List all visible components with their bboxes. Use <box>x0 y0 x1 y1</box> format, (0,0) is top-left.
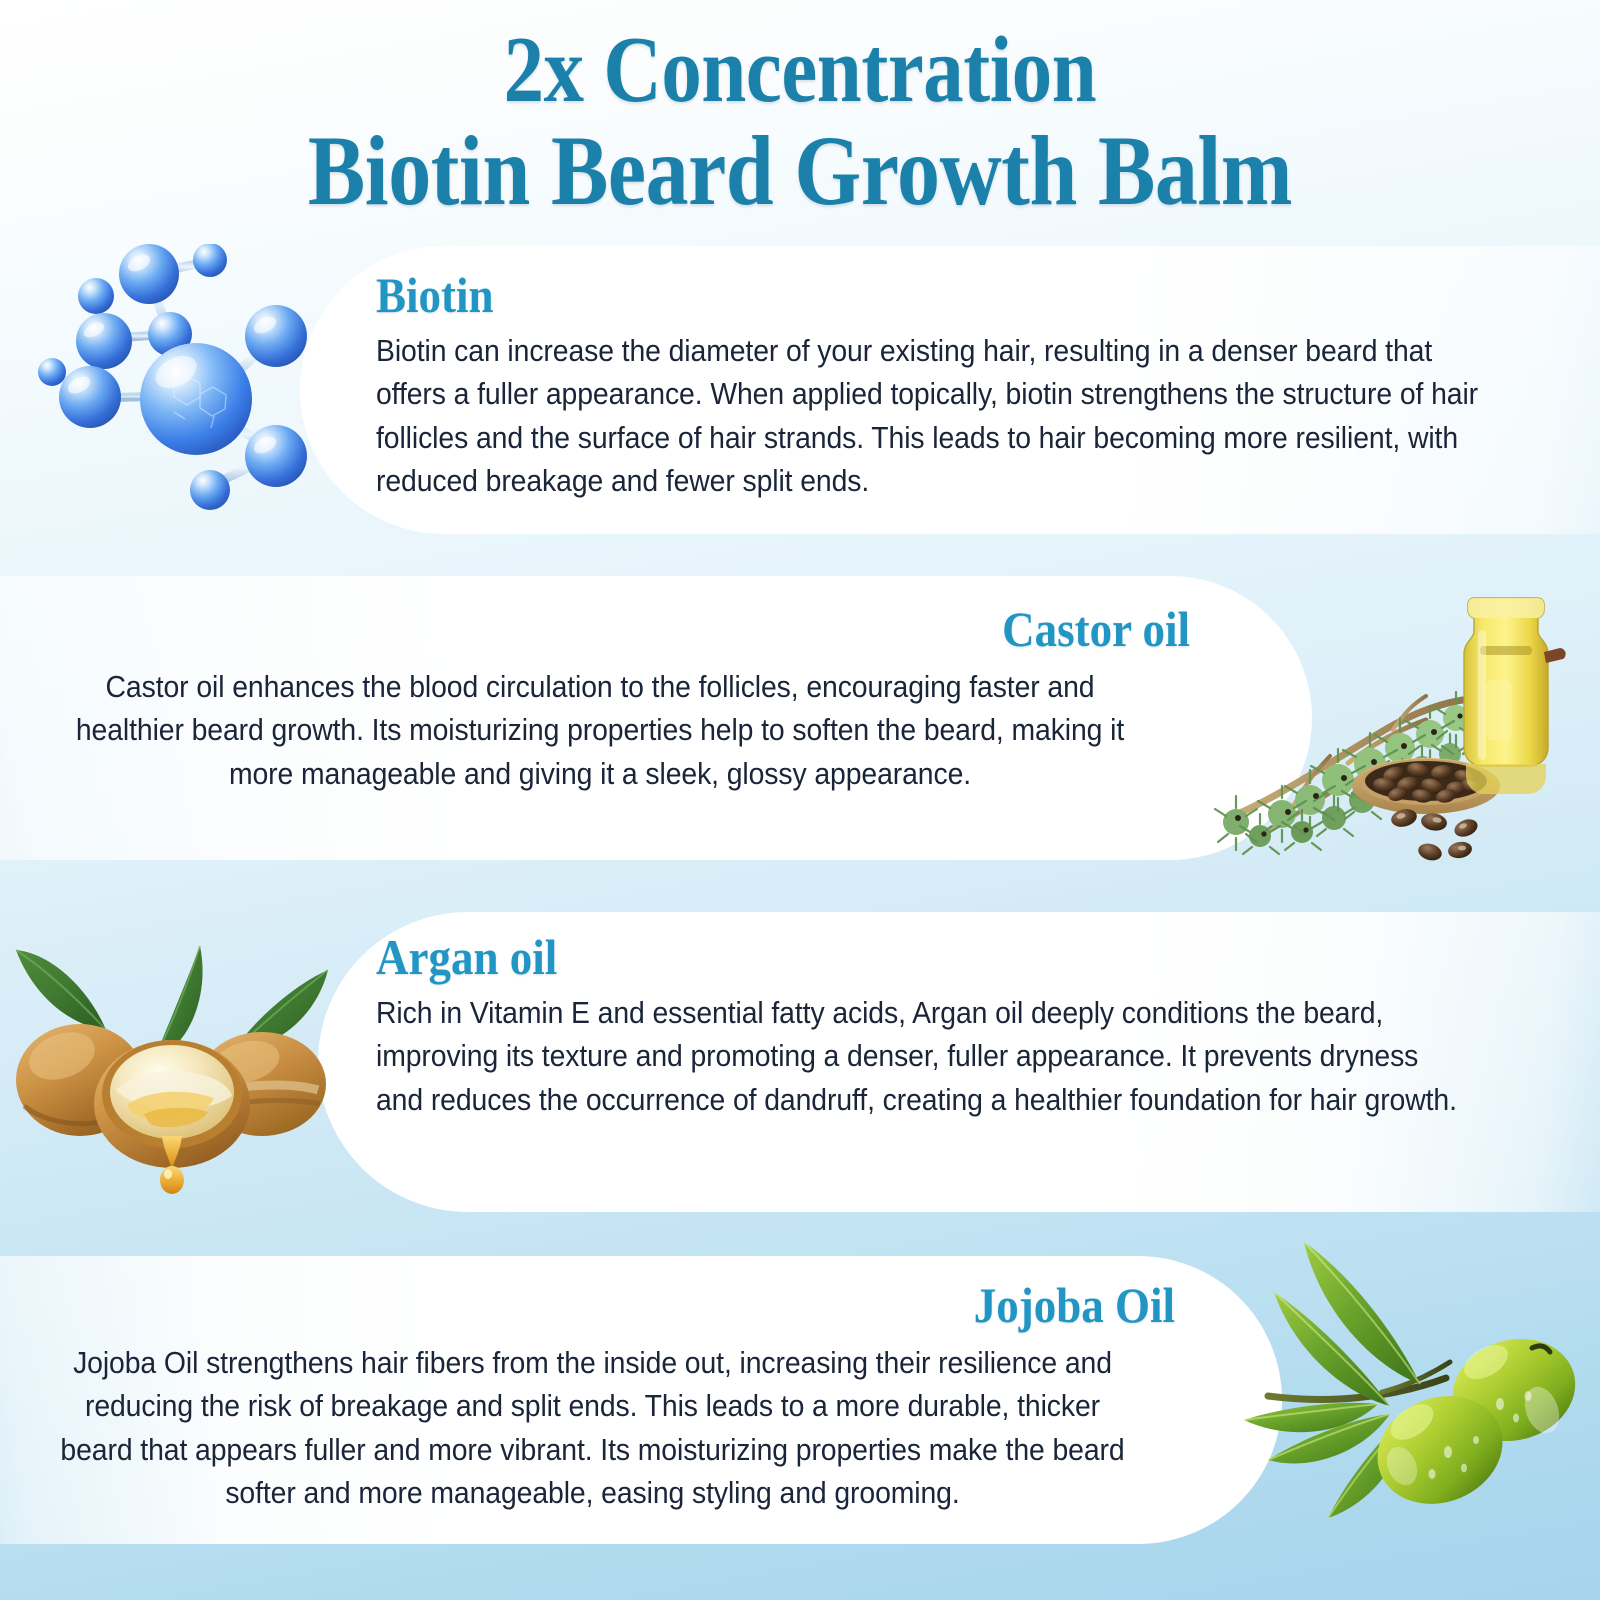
section-body-castor-oil: Castor oil enhances the blood circulatio… <box>51 666 1148 796</box>
argan-nuts-and-leaves <box>0 908 356 1210</box>
section-biotin: Biotin Biotin can increase the diameter … <box>376 270 1566 503</box>
section-heading-castor-oil: Castor oil <box>128 604 1190 654</box>
castor-plant-and-oil-bottle <box>1198 568 1598 888</box>
section-heading-argan-oil: Argan oil <box>376 932 1429 982</box>
page-title: 2x Concentration Biotin Beard Growth Bal… <box>0 24 1600 220</box>
section-heading-biotin: Biotin <box>376 270 1447 320</box>
section-body-biotin: Biotin can increase the diameter of your… <box>376 330 1483 503</box>
title-line-2: Biotin Beard Growth Balm <box>112 122 1488 220</box>
molecule-illustration <box>24 244 340 520</box>
section-jojoba-oil: Jojoba Oil Jojoba Oil strengthens hair f… <box>10 1280 1175 1515</box>
section-body-jojoba-oil: Jojoba Oil strengthens hair fibers from … <box>51 1342 1134 1515</box>
title-line-1: 2x Concentration <box>112 24 1488 116</box>
section-castor-oil: Castor oil Castor oil enhances the blood… <box>10 604 1190 796</box>
section-argan-oil: Argan oil Rich in Vitamin E and essentia… <box>376 932 1546 1122</box>
green-olives-on-branch <box>1232 1228 1600 1530</box>
section-heading-jojoba-oil: Jojoba Oil <box>127 1280 1176 1330</box>
section-body-argan-oil: Rich in Vitamin E and essential fatty ac… <box>376 992 1464 1122</box>
